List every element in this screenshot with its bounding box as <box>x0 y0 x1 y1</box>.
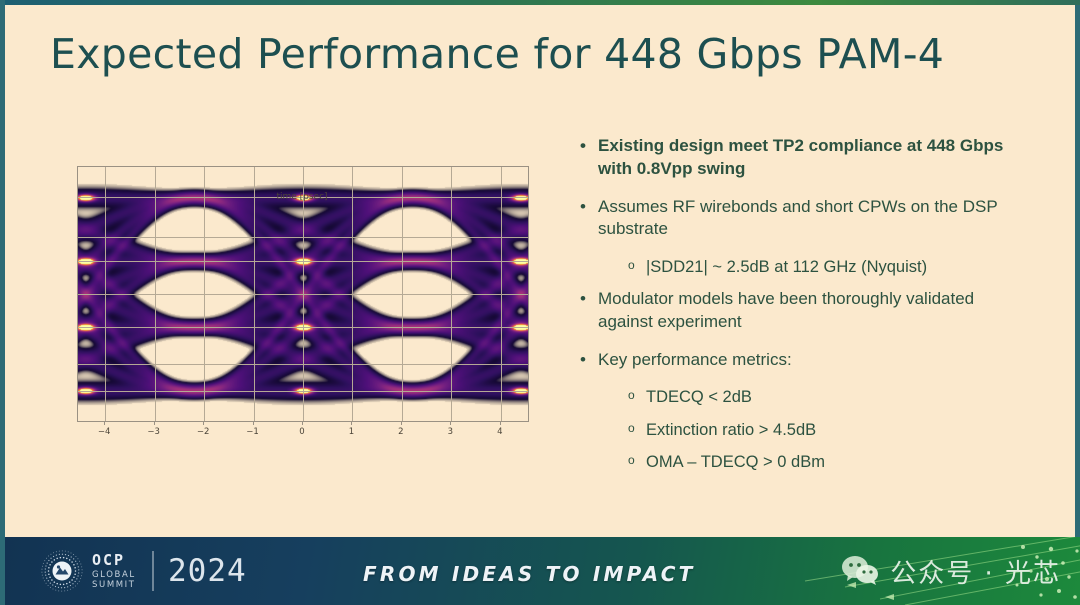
bullet-text: TDECQ < 2dB <box>646 386 752 408</box>
bullet-text: Key performance metrics: <box>598 349 792 372</box>
x-tick-label: 2 <box>398 427 403 437</box>
bullet-marker: o <box>628 386 646 408</box>
x-tick-label: 0 <box>299 427 304 437</box>
bullet-text: Assumes RF wirebonds and short CPWs on t… <box>598 196 1030 242</box>
x-tick-mark <box>253 421 254 425</box>
ocp-main-text: OCP <box>92 553 136 568</box>
x-tick-label: 3 <box>448 427 453 437</box>
x-tick-label: 1 <box>349 427 354 437</box>
x-tick-label: −3 <box>147 427 160 437</box>
bullet-text: Extinction ratio > 4.5dB <box>646 419 816 441</box>
x-tick-mark <box>203 421 204 425</box>
footer-bar: OCP GLOBAL SUMMIT 2024 FROM IDEAS TO IMP… <box>5 537 1080 605</box>
page-title: Expected Performance for 448 Gbps PAM-4 <box>50 30 944 78</box>
x-tick-mark <box>500 421 501 425</box>
bullet-item: •Existing design meet TP2 compliance at … <box>580 135 1030 181</box>
gridline-horizontal <box>78 261 528 262</box>
x-tick-mark <box>154 421 155 425</box>
x-tick-mark <box>302 421 303 425</box>
bullet-marker: • <box>580 135 598 181</box>
bullet-text: OMA – TDECQ > 0 dBm <box>646 451 825 473</box>
ocp-wordmark: OCP GLOBAL SUMMIT <box>92 553 136 590</box>
logo-divider <box>152 551 154 591</box>
bullet-item: o|SDD21| ~ 2.5dB at 112 GHz (Nyquist) <box>628 256 1030 278</box>
bullet-marker: • <box>580 288 598 334</box>
bullet-marker: • <box>580 349 598 372</box>
summit-year: 2024 <box>168 553 247 589</box>
x-tick-label: −4 <box>98 427 111 437</box>
top-accent-bar <box>5 0 1080 5</box>
wechat-watermark: 公众号 · 光芯 <box>840 549 1061 593</box>
gridline-horizontal <box>78 391 528 392</box>
x-tick-label: 4 <box>497 427 502 437</box>
bullet-text: Modulator models have been thoroughly va… <box>598 288 1030 334</box>
ocp-logo: OCP GLOBAL SUMMIT <box>41 549 136 593</box>
x-tick-label: −1 <box>246 427 259 437</box>
ocp-sub-text-1: GLOBAL <box>92 571 136 580</box>
wechat-label: 公众号 · 光芯 <box>890 553 1061 590</box>
gridline-horizontal <box>78 237 528 238</box>
bullet-text: Existing design meet TP2 compliance at 4… <box>598 135 1030 181</box>
bullet-marker: o <box>628 419 646 441</box>
bullet-list: •Existing design meet TP2 compliance at … <box>580 135 1030 483</box>
x-tick-label: −2 <box>197 427 210 437</box>
bullet-item: oTDECQ < 2dB <box>628 386 1030 408</box>
ocp-sunburst-emblem <box>41 550 83 592</box>
x-axis: −4−3−2−101234 <box>77 421 527 439</box>
x-tick-mark <box>450 421 451 425</box>
footer-tagline: FROM IDEAS TO IMPACT <box>363 562 695 586</box>
bullet-item: •Modulator models have been thoroughly v… <box>580 288 1030 334</box>
gridline-horizontal <box>78 364 528 365</box>
bullet-item: oExtinction ratio > 4.5dB <box>628 419 1030 441</box>
gridline-horizontal <box>78 294 528 295</box>
x-tick-mark <box>401 421 402 425</box>
slide: Expected Performance for 448 Gbps PAM-4 … <box>0 0 1080 605</box>
bullet-marker: • <box>580 196 598 242</box>
ocp-sub-text-2: SUMMIT <box>92 581 136 590</box>
bullet-marker: o <box>628 256 646 278</box>
bullet-text: |SDD21| ~ 2.5dB at 112 GHz (Nyquist) <box>646 256 927 278</box>
x-axis-label: time [psec] <box>77 192 527 202</box>
plot-frame <box>77 166 529 422</box>
bullet-marker: o <box>628 451 646 473</box>
x-tick-mark <box>104 421 105 425</box>
x-tick-mark <box>351 421 352 425</box>
gridline-horizontal <box>78 327 528 328</box>
bullet-item: •Key performance metrics: <box>580 349 1030 372</box>
bullet-item: oOMA – TDECQ > 0 dBm <box>628 451 1030 473</box>
bullet-item: •Assumes RF wirebonds and short CPWs on … <box>580 196 1030 242</box>
eye-diagram-figure: −4−3−2−101234 time [psec] <box>77 166 527 456</box>
wechat-icon <box>840 554 880 588</box>
